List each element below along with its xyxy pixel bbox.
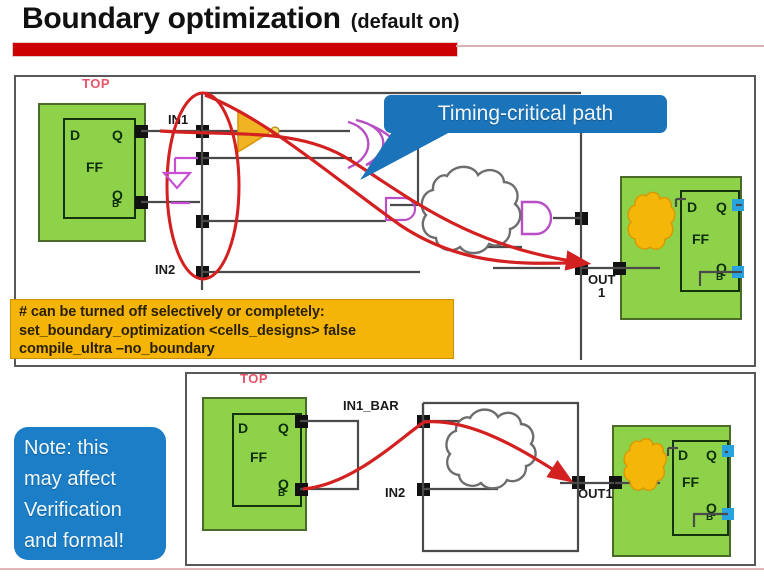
top-right-ff-pin-qbar <box>732 266 744 278</box>
bottom-right-ff-pin-q <box>722 445 734 457</box>
callout-label: Timing-critical path <box>438 102 613 126</box>
bottom-right-ff-qbar-b: B <box>706 513 713 523</box>
footer-rule-line <box>0 568 764 570</box>
slide-canvas: Boundary optimization (default on) TOP D… <box>0 0 764 579</box>
timing-critical-path-callout[interactable]: Timing-critical path <box>384 95 667 133</box>
top-port-mid-1 <box>196 152 209 165</box>
bottom-module-label: TOP <box>240 371 268 386</box>
verification-note-box: Note: this may affect Verification and f… <box>14 427 166 560</box>
top-left-ff-name: FF <box>86 160 103 174</box>
title-rule-line <box>456 45 764 47</box>
bottom-right-ff-name: FF <box>682 475 699 489</box>
top-port-out1-pin <box>613 262 626 275</box>
top-right-ff-pin-q <box>732 199 744 211</box>
bottom-right-ff-q-label: Q <box>706 448 717 462</box>
top-signal-label-in2: IN2 <box>155 262 175 277</box>
note-line-2: may affect <box>24 464 156 495</box>
bottom-port-in1bar <box>417 415 430 428</box>
bottom-port-in2 <box>417 483 430 496</box>
top-port-in2 <box>196 266 209 279</box>
bottom-left-ff-qbar-b: B <box>278 489 285 499</box>
title-accent-bar <box>12 42 458 57</box>
note-line-3: Verification <box>24 495 156 526</box>
bottom-right-ff-d-label: D <box>678 448 688 462</box>
top-right-ff-name: FF <box>692 232 709 246</box>
tcl-command-box: # can be turned off selectively or compl… <box>10 299 454 359</box>
code-line-comment: # can be turned off selectively or compl… <box>19 303 447 322</box>
top-signal-label-out1-cont: 1 <box>598 285 605 300</box>
bottom-left-ff-d-label: D <box>238 421 248 435</box>
top-port-mid-2 <box>196 215 209 228</box>
bottom-left-ff-q-label: Q <box>278 421 289 435</box>
top-port-ff-qbar <box>135 196 148 209</box>
note-line-4: and formal! <box>24 526 156 557</box>
bottom-port-out1 <box>572 476 585 489</box>
code-line-command1: set_boundary_optimization <cells_designs… <box>19 322 447 341</box>
top-right-ff-qbar-b: B <box>716 273 723 283</box>
top-port-in1 <box>196 125 209 138</box>
top-module-label: TOP <box>82 76 110 91</box>
bottom-signal-label-in2: IN2 <box>385 485 405 500</box>
top-left-ff-qbar-b: B <box>112 200 119 210</box>
bottom-left-ff-name: FF <box>250 450 267 464</box>
top-signal-label-in1: IN1 <box>168 112 188 127</box>
top-left-ff-d-label: D <box>70 128 80 142</box>
bottom-right-ff-pin-qbar <box>722 508 734 520</box>
top-port-ff-q <box>135 125 148 138</box>
page-title: Boundary optimization (default on) <box>22 2 460 36</box>
top-right-ff-q-label: Q <box>716 200 727 214</box>
bottom-signal-label-in1bar: IN1_BAR <box>343 398 399 413</box>
top-port-gate-out <box>575 212 588 225</box>
bottom-port-ff-q <box>295 415 308 428</box>
bottom-port-ff-qbar <box>295 483 308 496</box>
note-line-1: Note: this <box>24 433 156 464</box>
title-subtitle: (default on) <box>351 11 460 34</box>
top-port-out1 <box>575 262 588 275</box>
bottom-port-out1-pin <box>609 476 622 489</box>
top-right-ff-d-label: D <box>687 200 697 214</box>
title-main: Boundary optimization <box>22 2 341 36</box>
top-left-ff-q-label: Q <box>112 128 123 142</box>
code-line-command2: compile_ultra –no_boundary <box>19 340 447 359</box>
